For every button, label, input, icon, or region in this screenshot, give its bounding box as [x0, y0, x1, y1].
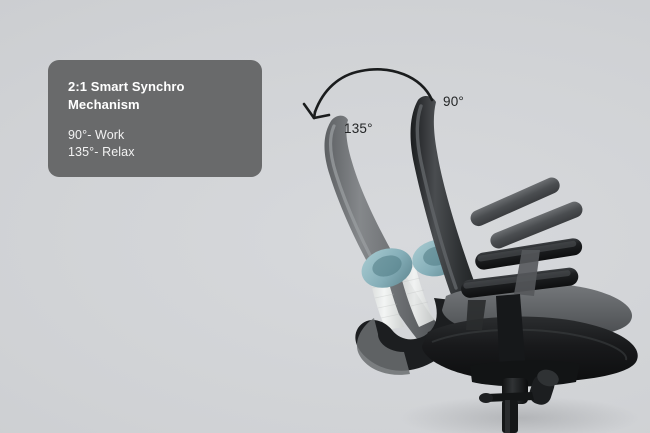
info-card: 2:1 Smart Synchro Mechanism 90°- Work 13… [48, 60, 262, 177]
screenshot-canvas: 135° 90° 2:1 Smart Synchro Mechanism 90°… [0, 0, 650, 433]
gas-cylinder [502, 400, 518, 433]
angle-label-135: 135° [344, 121, 373, 136]
angle-label-90: 90° [443, 94, 464, 109]
info-card-title: 2:1 Smart Synchro Mechanism [68, 78, 242, 114]
info-card-line-relax: 135°- Relax [68, 144, 242, 161]
info-card-line-work: 90°- Work [68, 127, 242, 144]
